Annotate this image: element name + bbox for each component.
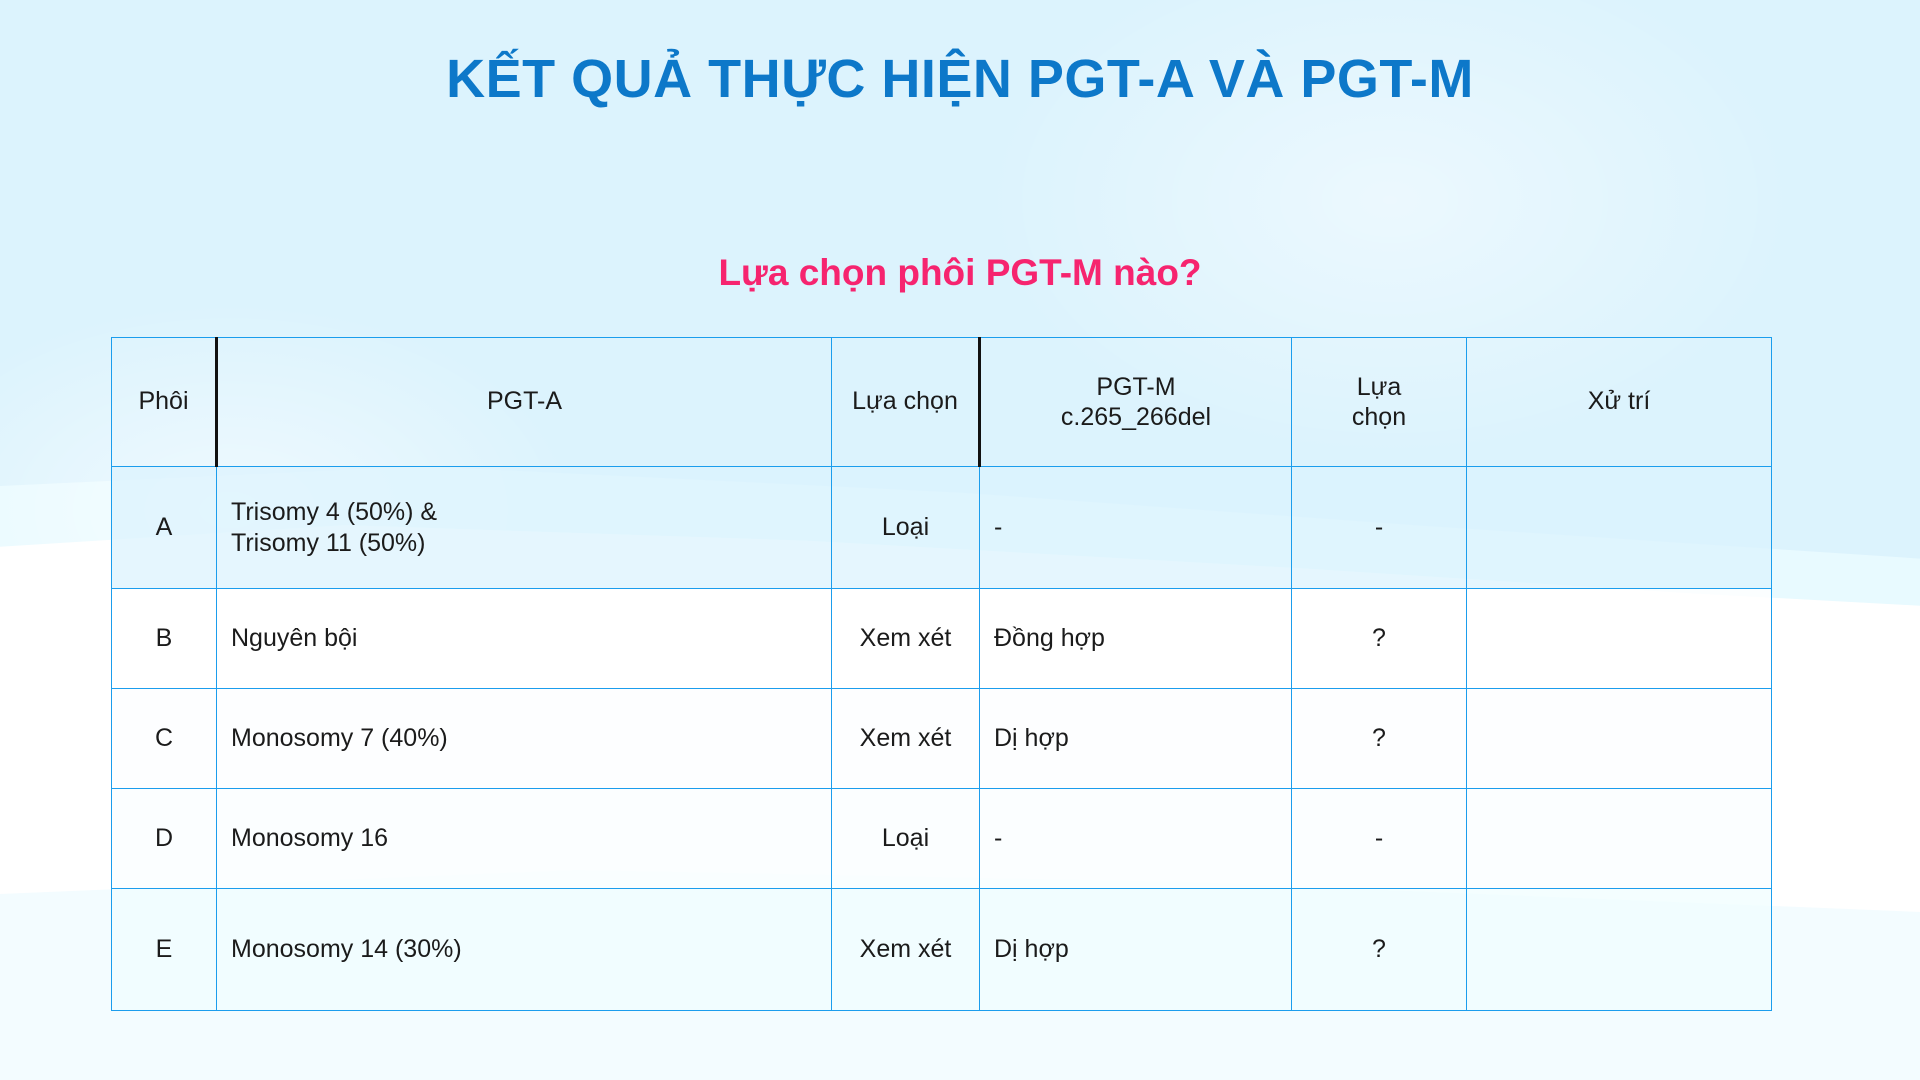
table-row: B Nguyên bội Xem xét Đồng hợp ? [112,589,1772,689]
cell-selection-1: Loại [832,467,980,589]
cell-pgta: Monosomy 14 (30%) [217,889,832,1011]
page-subtitle: Lựa chọn phôi PGT-M nào? [0,252,1920,294]
cell-phoi: E [112,889,217,1011]
cell-xutri [1467,689,1772,789]
cell-pgta: Nguyên bội [217,589,832,689]
table-row: E Monosomy 14 (30%) Xem xét Dị hợp ? [112,889,1772,1011]
results-table-container: Phôi PGT-A Lựa chọn PGT-M c.265_266del L… [111,337,1771,1011]
column-header-xutri: Xử trí [1467,338,1772,467]
cell-selection-1: Loại [832,789,980,889]
cell-pgtm: - [980,789,1292,889]
cell-pgta: Trisomy 4 (50%) & Trisomy 11 (50%) [217,467,832,589]
cell-pgtm: - [980,467,1292,589]
slide-canvas: KẾT QUẢ THỰC HIỆN PGT-A VÀ PGT-M Lựa chọ… [0,0,1920,1080]
cell-selection-2: ? [1292,889,1467,1011]
cell-pgtm: Dị hợp [980,889,1292,1011]
cell-selection-2: ? [1292,689,1467,789]
table-row: A Trisomy 4 (50%) & Trisomy 11 (50%) Loạ… [112,467,1772,589]
cell-xutri [1467,789,1772,889]
table-row: D Monosomy 16 Loại - - [112,789,1772,889]
cell-selection-1: Xem xét [832,689,980,789]
cell-selection-2: ? [1292,589,1467,689]
cell-xutri [1467,589,1772,689]
table-header: Phôi PGT-A Lựa chọn PGT-M c.265_266del L… [112,338,1772,467]
cell-xutri [1467,889,1772,1011]
cell-pgta: Monosomy 7 (40%) [217,689,832,789]
cell-phoi: D [112,789,217,889]
cell-xutri [1467,467,1772,589]
cell-pgtm: Đồng hợp [980,589,1292,689]
cell-pgta: Monosomy 16 [217,789,832,889]
cell-phoi: B [112,589,217,689]
table-row: C Monosomy 7 (40%) Xem xét Dị hợp ? [112,689,1772,789]
column-header-pgtm: PGT-M c.265_266del [980,338,1292,467]
cell-selection-2: - [1292,467,1467,589]
results-table: Phôi PGT-A Lựa chọn PGT-M c.265_266del L… [111,337,1772,1011]
cell-selection-1: Xem xét [832,889,980,1011]
column-header-pgta: PGT-A [217,338,832,467]
column-header-phoi: Phôi [112,338,217,467]
table-body: A Trisomy 4 (50%) & Trisomy 11 (50%) Loạ… [112,467,1772,1011]
cell-pgtm: Dị hợp [980,689,1292,789]
column-header-selection-2: Lựa chọn [1292,338,1467,467]
column-header-selection-1: Lựa chọn [832,338,980,467]
table-header-row: Phôi PGT-A Lựa chọn PGT-M c.265_266del L… [112,338,1772,467]
cell-selection-2: - [1292,789,1467,889]
cell-phoi: A [112,467,217,589]
page-title: KẾT QUẢ THỰC HIỆN PGT-A VÀ PGT-M [0,48,1920,110]
cell-selection-1: Xem xét [832,589,980,689]
cell-phoi: C [112,689,217,789]
